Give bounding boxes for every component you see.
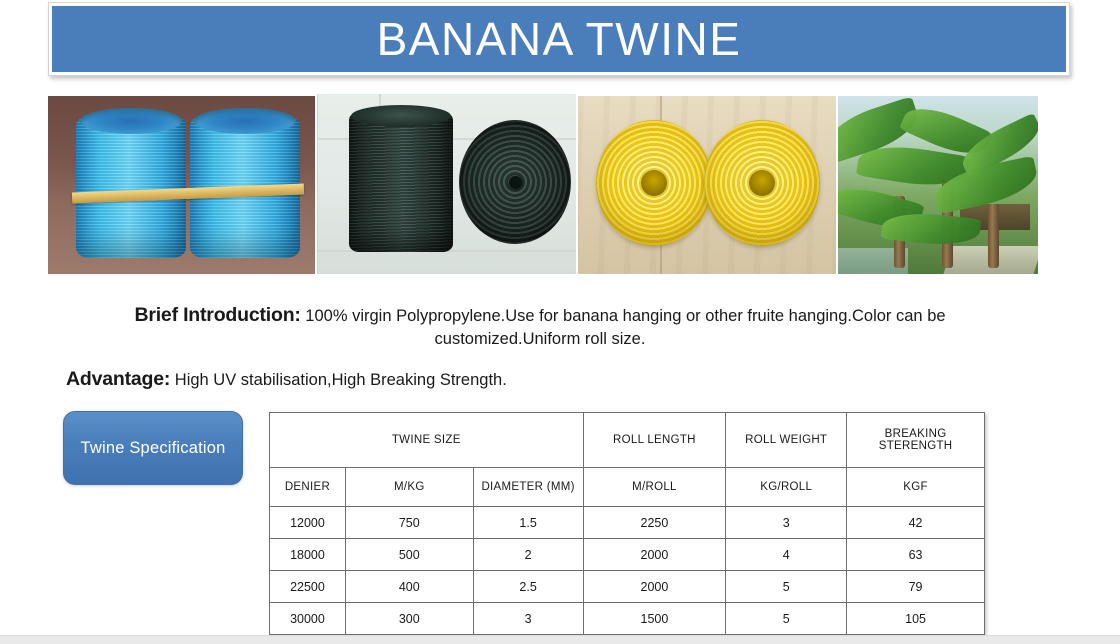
product-photo-strip: [48, 94, 1038, 274]
twine-specification-table: TWINE SIZE ROLL LENGTH ROLL WEIGHT BREAK…: [269, 412, 985, 635]
footer-strip: [0, 635, 1120, 644]
advantage-label: Advantage:: [66, 368, 170, 390]
table-head: TWINE SIZE ROLL LENGTH ROLL WEIGHT BREAK…: [270, 413, 985, 507]
cell-m-per-roll: 2000: [583, 539, 726, 571]
banana-plantation-photo: [838, 96, 1038, 274]
brief-introduction-block: Brief Introduction: 100% virgin Polyprop…: [60, 303, 1020, 351]
title-banner-fill: BANANA TWINE: [52, 6, 1066, 72]
cell-denier: 30000: [270, 603, 346, 635]
black-twine-rolls-photo: [317, 94, 576, 274]
column-unit-kg-per-roll: KG/ROLL: [726, 468, 847, 507]
cell-kgf: 42: [847, 507, 985, 539]
column-group-roll-weight: ROLL WEIGHT: [726, 413, 847, 468]
column-group-twine-size: TWINE SIZE: [270, 413, 584, 468]
column-unit-denier: DENIER: [270, 468, 346, 507]
cell-m-per-kg: 300: [345, 603, 473, 635]
brief-introduction-text: 100% virgin Polypropylene.Use for banana…: [305, 307, 945, 348]
cell-kg-per-roll: 3: [726, 507, 847, 539]
cell-kg-per-roll: 4: [726, 539, 847, 571]
cell-m-per-kg: 750: [345, 507, 473, 539]
twine-specification-callout: Twine Specification: [63, 411, 243, 485]
cell-m-per-roll: 2250: [583, 507, 726, 539]
cell-m-per-roll: 2000: [583, 571, 726, 603]
twine-specification-callout-label: Twine Specification: [80, 439, 225, 458]
cell-m-per-roll: 1500: [583, 603, 726, 635]
cell-diameter-mm: 1.5: [473, 507, 583, 539]
column-unit-m-per-kg: M/KG: [345, 468, 473, 507]
cell-diameter-mm: 2: [473, 539, 583, 571]
table-row: 18000 500 2 2000 4 63: [270, 539, 985, 571]
cell-kgf: 105: [847, 603, 985, 635]
column-group-breaking-strength: BREAKING STERENGTH: [847, 413, 985, 468]
column-unit-diameter-mm: DIAMETER (MM): [473, 468, 583, 507]
cell-kg-per-roll: 5: [726, 603, 847, 635]
brief-introduction-label: Brief Introduction:: [134, 304, 300, 326]
column-unit-m-per-roll: M/ROLL: [583, 468, 726, 507]
cell-diameter-mm: 3: [473, 603, 583, 635]
table-unit-header-row: DENIER M/KG DIAMETER (MM) M/ROLL KG/ROLL…: [270, 468, 985, 507]
table-row: 12000 750 1.5 2250 3 42: [270, 507, 985, 539]
table-row: 22500 400 2.5 2000 5 79: [270, 571, 985, 603]
cell-denier: 22500: [270, 571, 346, 603]
page-title: BANANA TWINE: [377, 16, 742, 62]
table-body: 12000 750 1.5 2250 3 42 18000 500 2 2000…: [270, 507, 985, 635]
table-row: 30000 300 3 1500 5 105: [270, 603, 985, 635]
column-unit-kgf: KGF: [847, 468, 985, 507]
cell-denier: 12000: [270, 507, 346, 539]
title-banner: BANANA TWINE: [48, 2, 1070, 76]
cell-m-per-kg: 500: [345, 539, 473, 571]
advantage-text: High UV stabilisation,High Breaking Stre…: [175, 371, 507, 389]
column-group-roll-length: ROLL LENGTH: [583, 413, 726, 468]
table-group-header-row: TWINE SIZE ROLL LENGTH ROLL WEIGHT BREAK…: [270, 413, 985, 468]
blue-twine-rolls-photo: [48, 96, 315, 274]
advantage-block: Advantage: High UV stabilisation,High Br…: [66, 368, 507, 391]
cell-kgf: 79: [847, 571, 985, 603]
cell-denier: 18000: [270, 539, 346, 571]
product-spec-page: BANANA TWINE: [0, 0, 1120, 644]
cell-diameter-mm: 2.5: [473, 571, 583, 603]
cell-kgf: 63: [847, 539, 985, 571]
yellow-twine-rolls-photo: [578, 96, 836, 274]
cell-kg-per-roll: 5: [726, 571, 847, 603]
cell-m-per-kg: 400: [345, 571, 473, 603]
